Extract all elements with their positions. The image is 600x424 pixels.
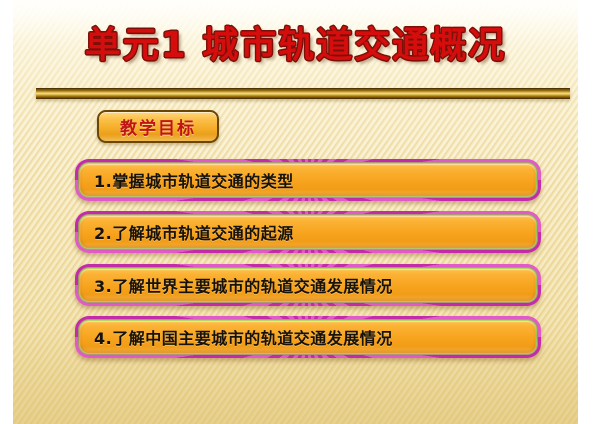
objective-item-1: 1.掌握城市轨道交通的类型	[75, 159, 541, 201]
slide-title-container: 单元1 城市轨道交通概况	[13, 26, 578, 66]
objective-border-green: 4.了解中国主要城市的轨道交通发展情况	[78, 319, 538, 355]
section-label-text: 教学目标	[120, 114, 196, 139]
objective-text: 1.掌握城市轨道交通的类型	[94, 168, 294, 192]
objective-body: 4.了解中国主要城市的轨道交通发展情况	[80, 321, 536, 353]
objective-text: 3.了解世界主要城市的轨道交通发展情况	[94, 273, 393, 297]
objective-item-2: 2.了解城市轨道交通的起源	[75, 211, 541, 253]
objective-body: 3.了解世界主要城市的轨道交通发展情况	[80, 269, 536, 301]
gold-divider-bar	[36, 88, 570, 99]
objective-body: 1.掌握城市轨道交通的类型	[80, 164, 536, 196]
objective-text: 4.了解中国主要城市的轨道交通发展情况	[94, 325, 393, 349]
objective-border-green: 1.掌握城市轨道交通的类型	[78, 162, 538, 198]
objective-text: 2.了解城市轨道交通的起源	[94, 220, 294, 244]
page-title: 单元1 城市轨道交通概况	[85, 26, 507, 66]
objective-body: 2.了解城市轨道交通的起源	[80, 216, 536, 248]
slide-canvas: 单元1 城市轨道交通概况 教学目标 1.掌握城市轨道交通的类型 2.了解城市轨道…	[13, 0, 578, 424]
section-label-plate: 教学目标	[97, 110, 219, 143]
objective-border-green: 2.了解城市轨道交通的起源	[78, 214, 538, 250]
objective-border-green: 3.了解世界主要城市的轨道交通发展情况	[78, 267, 538, 303]
presentation-slide: 单元1 城市轨道交通概况 教学目标 1.掌握城市轨道交通的类型 2.了解城市轨道…	[0, 0, 600, 424]
objective-item-4: 4.了解中国主要城市的轨道交通发展情况	[75, 316, 541, 358]
objective-item-3: 3.了解世界主要城市的轨道交通发展情况	[75, 264, 541, 306]
